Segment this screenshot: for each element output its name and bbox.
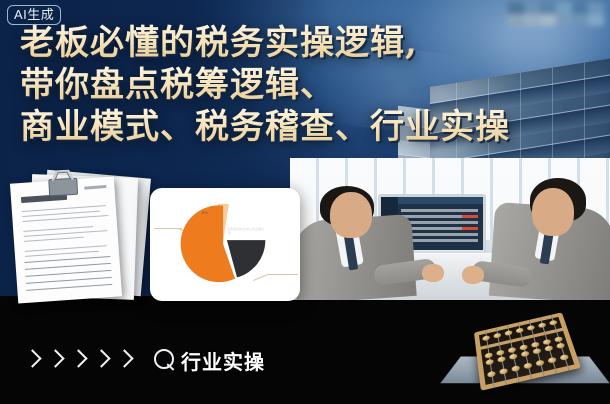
chevron-right-icon: [118, 350, 129, 370]
page-title: 老板必懂的税务实操逻辑, 带你盘点税筹逻辑、 商业模式、税务稽查、行业实操: [20, 22, 560, 148]
chart-value-label: 8%: [202, 210, 208, 215]
tax-report-documents: [2, 168, 150, 302]
ai-generated-badge: AI生成: [7, 5, 61, 25]
person-left: [290, 158, 436, 300]
binder-clip-icon: [45, 169, 80, 197]
poster-canvas: AI生成 老板必懂的税务实操逻辑, 带你盘点税筹逻辑、 商业模式、税务稽查、行业…: [0, 0, 610, 404]
headline-line-2: 带你盘点税筹逻辑、: [20, 64, 560, 106]
pie-chart: [177, 196, 273, 292]
cta-label: 行业实操: [181, 346, 265, 375]
chevron-right-icon: [26, 350, 37, 370]
headline-line-3: 商业模式、税务稽查、行业实操: [20, 106, 560, 148]
magnifier-icon: [153, 348, 177, 372]
chart-annotation-note: 税务稽查重点方向 占比结构说明: [228, 228, 266, 235]
business-handshake-photo: [290, 158, 610, 300]
headline-line-1: 老板必懂的税务实操逻辑,: [20, 22, 560, 64]
pie-chart-card: 税务稽查重点方向 占比结构说明 8%: [150, 188, 300, 301]
chevron-right-icon: [49, 350, 60, 370]
chevron-arrow-group: [26, 350, 129, 370]
bottom-cta-bar: 行业实操: [0, 334, 610, 386]
chevron-right-icon: [95, 350, 106, 370]
chevron-right-icon: [72, 350, 83, 370]
person-right: [466, 158, 610, 300]
cta-group[interactable]: 行业实操: [153, 346, 265, 375]
